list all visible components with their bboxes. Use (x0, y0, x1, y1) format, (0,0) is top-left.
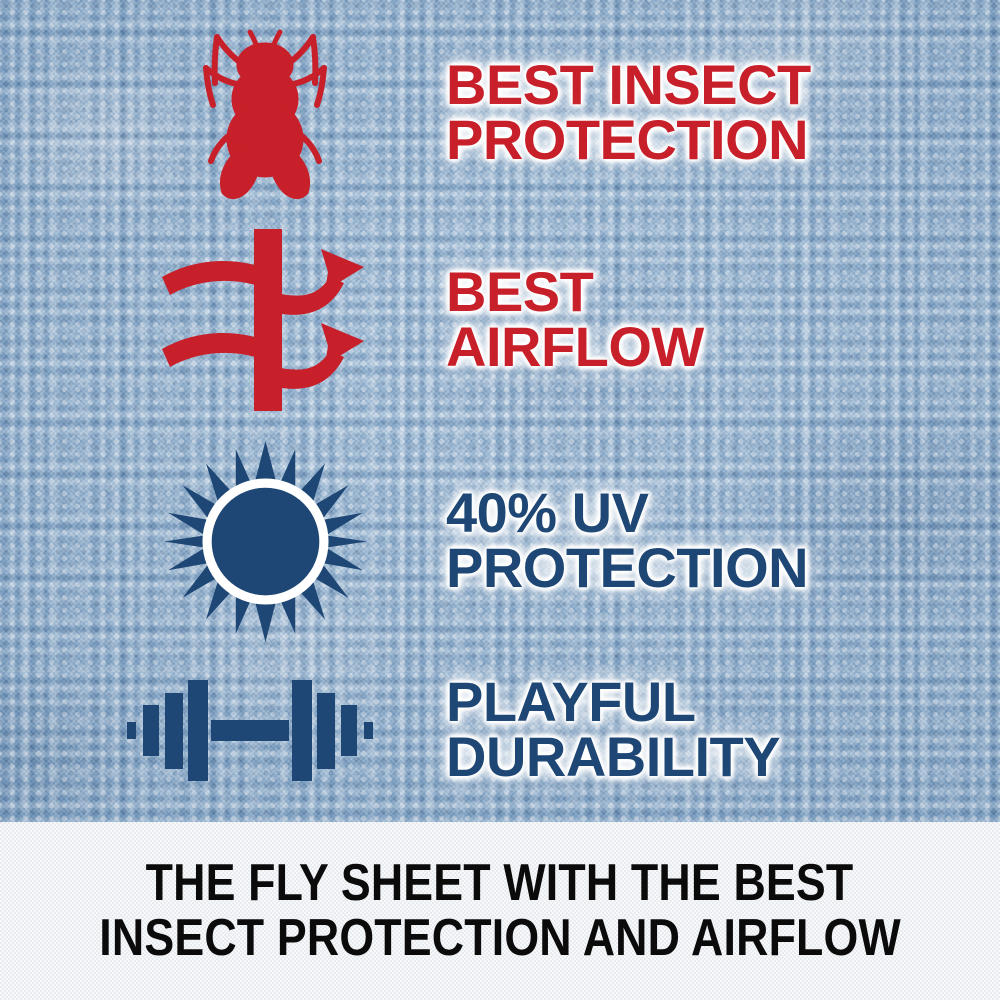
caption-line-1: THE FLY SHEET WITH THE BEST (146, 856, 854, 911)
feature-icon-cell-insect (150, 21, 380, 206)
feature-label-durability: PLAYFUL DURABILITY (446, 675, 780, 785)
dumbbell-icon (125, 665, 375, 795)
caption-line-2: INSECT PROTECTION AND AIRFLOW (99, 911, 901, 966)
sun-icon (163, 439, 368, 644)
product-feature-infographic: BEST INSECT PROTECTION (0, 0, 1000, 1000)
feature-icon-cell-airflow (150, 225, 380, 415)
feature-label-insect-protection: BEST INSECT PROTECTION (446, 58, 811, 168)
feature-label-uv-protection: 40% UV PROTECTION (446, 486, 808, 596)
feature-icon-cell-durability (120, 655, 380, 805)
feature-row-insect-protection: BEST INSECT PROTECTION (150, 18, 1000, 208)
feature-row-durability: PLAYFUL DURABILITY (120, 650, 1000, 810)
feature-row-uv-protection: 40% UV PROTECTION (150, 432, 1000, 650)
caption-bar: THE FLY SHEET WITH THE BEST INSECT PROTE… (0, 822, 1000, 1000)
feature-label-airflow: BEST AIRFLOW (446, 265, 704, 375)
fly-icon (190, 21, 340, 206)
feature-row-airflow: BEST AIRFLOW (150, 222, 1000, 418)
feature-icon-cell-uv (150, 434, 380, 649)
airflow-arrows-icon (158, 225, 373, 415)
